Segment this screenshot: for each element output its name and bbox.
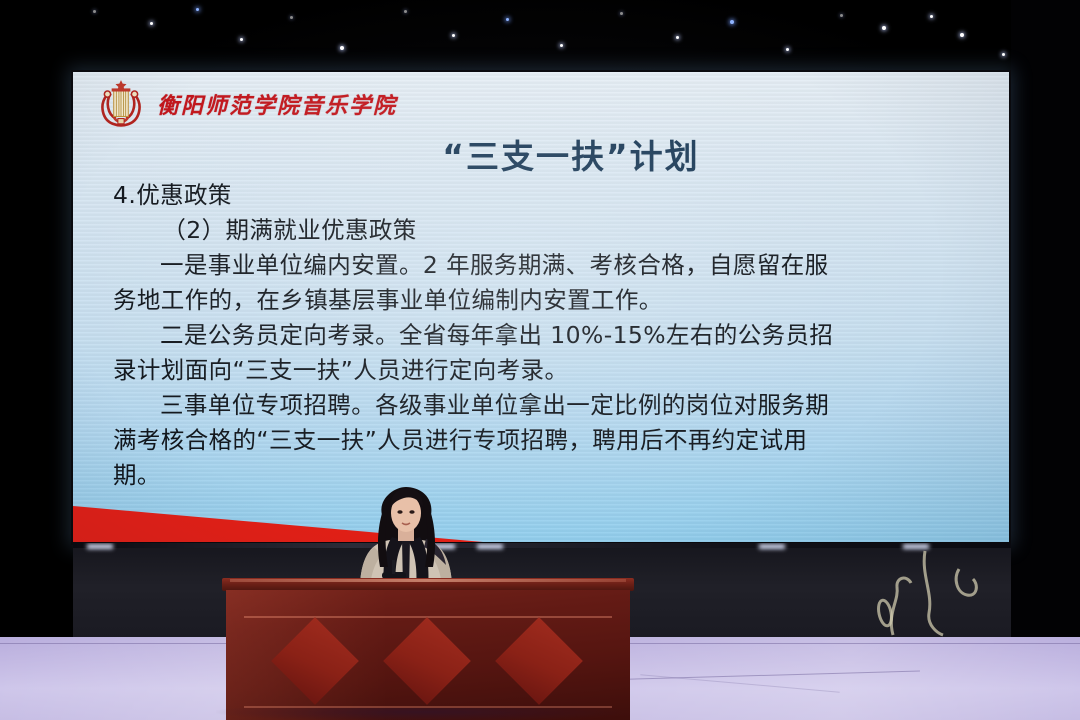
- star-light: [452, 34, 455, 37]
- wooden-podium: [222, 578, 634, 720]
- paragraph-2-line-1: 二是公务员定向考录。全省每年拿出 10%-15%左右的公务员招: [113, 318, 979, 353]
- star-light: [930, 15, 933, 18]
- star-light: [340, 46, 344, 50]
- star-light: [840, 14, 843, 17]
- podium-inset-panel: [244, 616, 612, 708]
- podium-floor-shadow: [216, 708, 640, 720]
- organization-name: 衡阳师范学院音乐学院: [157, 88, 397, 120]
- paragraph-3-line-3: 期。: [113, 458, 979, 493]
- paragraph-1-line-2: 务地工作的，在乡镇基层事业单位编制内安置工作。: [113, 283, 979, 318]
- lyre-logo-icon: [95, 78, 147, 130]
- star-light: [620, 12, 623, 15]
- star-light: [960, 33, 964, 37]
- star-light: [676, 36, 679, 39]
- apron-lip: [73, 543, 1011, 548]
- podium-diamond-ornament: [383, 617, 471, 705]
- apron-light-glow: [477, 544, 503, 549]
- star-light: [1002, 53, 1005, 56]
- right-stage-pillar: [1011, 0, 1080, 640]
- podium-diamond-ornament: [271, 617, 359, 705]
- podium-top-highlight: [230, 579, 626, 582]
- left-stage-pillar: [0, 0, 73, 640]
- microphone-stem: [392, 560, 395, 574]
- star-light: [150, 22, 153, 25]
- paragraph-3-line-2: 满考核合格的“三支一扶”人员进行专项招聘，聘用后不再约定试用: [113, 423, 979, 458]
- podium-front-body: [226, 590, 630, 720]
- star-light: [882, 26, 886, 30]
- star-light: [93, 10, 96, 13]
- slide-body: 4.优惠政策 （2）期满就业优惠政策 一是事业单位编内安置。2 年服务期满、考核…: [113, 178, 979, 493]
- slide-header: 衡阳师范学院音乐学院: [95, 78, 397, 130]
- star-light: [240, 38, 243, 41]
- star-light: [786, 48, 789, 51]
- star-light: [404, 10, 407, 13]
- apron-light-glow: [87, 544, 113, 549]
- star-light: [560, 44, 563, 47]
- podium-diamond-ornament: [495, 617, 583, 705]
- apron-decor-squiggles: [863, 549, 1011, 640]
- slide-title: “三支一扶”计划: [73, 130, 1009, 178]
- paragraph-2-line-2: 录计划面向“三支一扶”人员进行定向考录。: [113, 353, 979, 388]
- presentation-slide: 衡阳师范学院音乐学院 “三支一扶”计划 4.优惠政策 （2）期满就业优惠政策 一…: [73, 72, 1009, 542]
- star-light: [290, 16, 293, 19]
- apron-light-glow: [759, 544, 785, 549]
- star-light: [730, 20, 734, 24]
- auditorium-photo: 衡阳师范学院音乐学院 “三支一扶”计划 4.优惠政策 （2）期满就业优惠政策 一…: [0, 0, 1080, 720]
- body-subheading: （2）期满就业优惠政策: [113, 213, 979, 248]
- paragraph-1-line-1: 一是事业单位编内安置。2 年服务期满、考核合格，自愿留在服: [113, 248, 979, 283]
- paragraph-3-line-1: 三事单位专项招聘。各级事业单位拿出一定比例的岗位对服务期: [113, 388, 979, 423]
- star-light: [196, 8, 199, 11]
- star-light: [506, 18, 509, 21]
- body-heading: 4.优惠政策: [113, 178, 979, 213]
